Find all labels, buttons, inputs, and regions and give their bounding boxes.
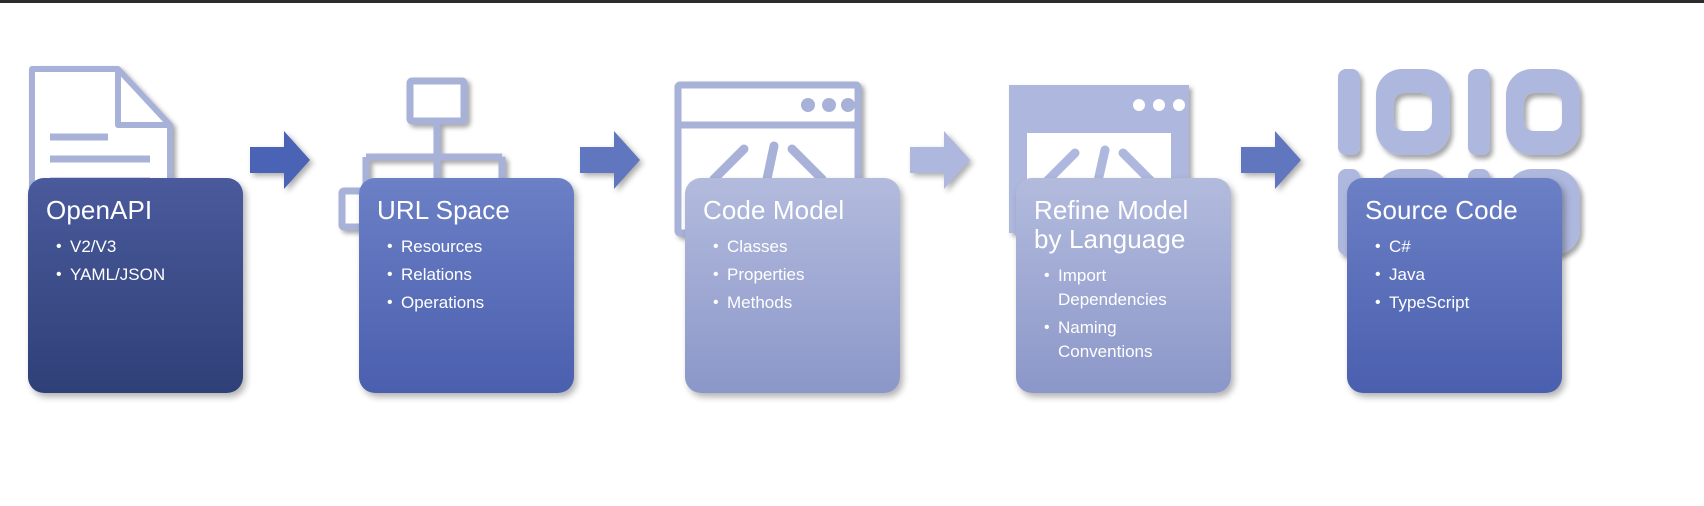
arrow-refine-model-to-source-code bbox=[1239, 129, 1303, 191]
list-item: Naming Conventions bbox=[1044, 316, 1215, 364]
card-title: Code Model bbox=[703, 196, 884, 225]
card-refine-model[interactable]: Refine Model by Language Import Dependen… bbox=[1016, 178, 1231, 393]
stage-code-model[interactable]: Code Model Classes Properties Methods bbox=[656, 3, 986, 506]
stage-source-code[interactable]: Source Code C# Java TypeScript bbox=[1318, 3, 1648, 506]
card-title: OpenAPI bbox=[46, 196, 227, 225]
list-item: Relations bbox=[387, 263, 558, 287]
list-item: V2/V3 bbox=[56, 235, 227, 259]
card-bullet-list: C# Java TypeScript bbox=[1365, 235, 1546, 315]
arrow-openapi-to-url-space bbox=[248, 129, 312, 191]
card-title: Refine Model by Language bbox=[1034, 196, 1215, 254]
card-title: Source Code bbox=[1365, 196, 1546, 225]
card-title: URL Space bbox=[377, 196, 558, 225]
card-source-code[interactable]: Source Code C# Java TypeScript bbox=[1347, 178, 1562, 393]
list-item: TypeScript bbox=[1375, 291, 1546, 315]
pipeline-diagram: OpenAPI V2/V3 YAML/JSON bbox=[0, 0, 1704, 506]
stage-url-space[interactable]: URL Space Resources Relations Operations bbox=[330, 3, 660, 506]
list-item: Java bbox=[1375, 263, 1546, 287]
list-item: C# bbox=[1375, 235, 1546, 259]
card-url-space[interactable]: URL Space Resources Relations Operations bbox=[359, 178, 574, 393]
list-item: Import Dependencies bbox=[1044, 264, 1215, 312]
card-code-model[interactable]: Code Model Classes Properties Methods bbox=[685, 178, 900, 393]
card-openapi[interactable]: OpenAPI V2/V3 YAML/JSON bbox=[28, 178, 243, 393]
list-item: Properties bbox=[713, 263, 884, 287]
list-item: Operations bbox=[387, 291, 558, 315]
card-bullet-list: Import Dependencies Naming Conventions bbox=[1034, 264, 1215, 364]
arrow-url-space-to-code-model bbox=[578, 129, 642, 191]
stage-refine-model[interactable]: Refine Model by Language Import Dependen… bbox=[987, 3, 1317, 506]
list-item: YAML/JSON bbox=[56, 263, 227, 287]
card-bullet-list: V2/V3 YAML/JSON bbox=[46, 235, 227, 287]
list-item: Methods bbox=[713, 291, 884, 315]
card-bullet-list: Classes Properties Methods bbox=[703, 235, 884, 315]
card-bullet-list: Resources Relations Operations bbox=[377, 235, 558, 315]
list-item: Classes bbox=[713, 235, 884, 259]
stage-openapi[interactable]: OpenAPI V2/V3 YAML/JSON bbox=[0, 3, 330, 506]
list-item: Resources bbox=[387, 235, 558, 259]
arrow-code-model-to-refine-model bbox=[908, 129, 972, 191]
